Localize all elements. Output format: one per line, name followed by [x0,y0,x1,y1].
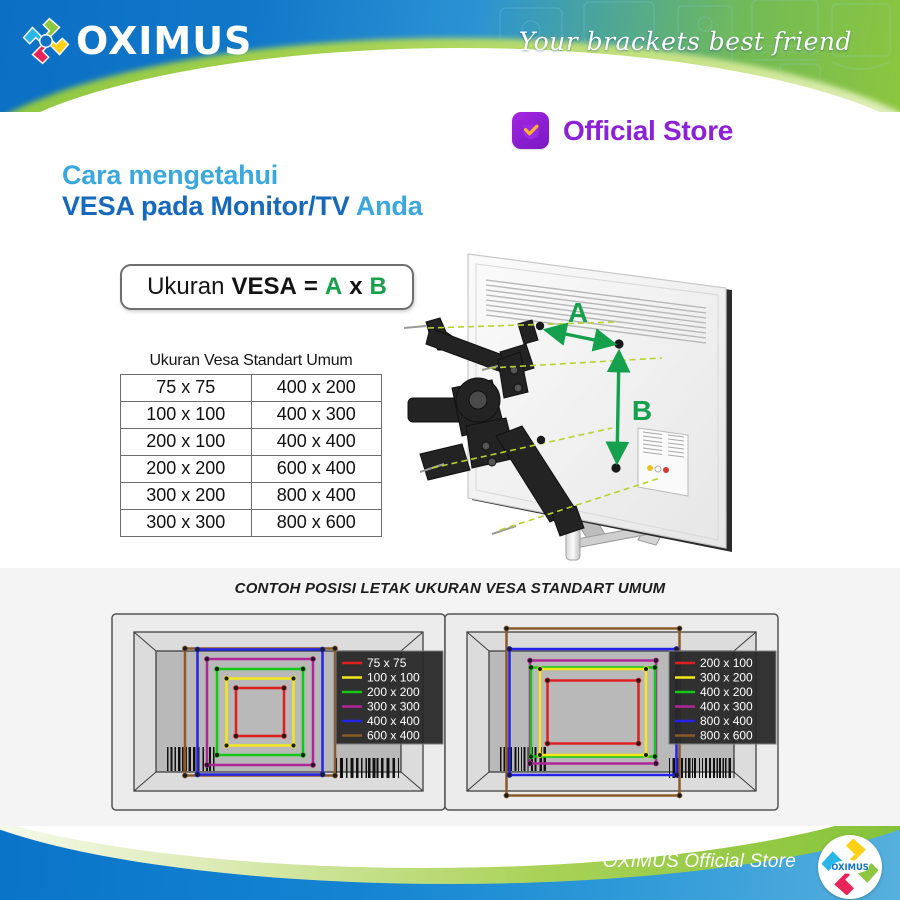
legend-label: 800 x 400 [700,714,753,728]
infographic-page: OXIMUS Your brackets best friend Officia… [0,0,900,900]
footer-store-name: OXIMUS Official Store [603,851,796,873]
legend: 75 x 75100 x 100200 x 200300 x 300400 x … [336,651,443,744]
legend-label: 600 x 400 [367,729,420,743]
vesa-size-table: 75 x 75400 x 200100 x 100400 x 300200 x … [120,374,382,537]
heading-line-2-main: VESA pada Monitor/TV [62,191,350,221]
table-cell: 400 x 200 [251,375,382,402]
formula-vesa: VESA [231,273,296,301]
page-title: Cara mengetahui VESA pada Monitor/TV And… [62,160,423,222]
table-cell: 800 x 600 [251,510,382,537]
legend-label: 100 x 100 [367,671,420,685]
vesa-example-panel-square: 75 x 75100 x 100200 x 200300 x 300400 x … [110,612,447,812]
legend-label: 300 x 200 [700,671,753,685]
official-store-badge: Official Store [512,112,733,149]
tv-connector-plate [638,428,688,496]
table-title: Ukuran Vesa Standart Umum [120,352,382,370]
heading-line-1: Cara mengetahui [62,160,423,191]
legend-label: 75 x 75 [367,656,407,670]
table-cell: 800 x 400 [251,483,382,510]
legend-label: 200 x 200 [367,685,420,699]
table-row: 300 x 200800 x 400 [121,483,382,510]
table-cell: 600 x 400 [251,456,382,483]
table-cell: 100 x 100 [121,402,252,429]
page-header: OXIMUS Your brackets best friend [0,0,900,112]
table-row: 100 x 100400 x 300 [121,402,382,429]
legend-label: 800 x 600 [700,729,753,743]
examples-section-title: CONTOH POSISI LETAK UKURAN VESA STANDART… [0,580,900,597]
label-b: B [632,395,652,426]
tv-back-illustration: A B [400,240,800,570]
formula-times: x [349,273,362,301]
formula-b: B [370,273,387,301]
heading-line-2-accent: Anda [350,191,423,221]
pinwheel-logo-icon [22,17,70,65]
table-cell: 75 x 75 [121,375,252,402]
table-row: 75 x 75400 x 200 [121,375,382,402]
tv-panel [468,254,732,552]
page-footer: OXIMUS Official Store OXIMUS [0,826,900,900]
footer-logo-badge: OXIMUS [818,835,882,899]
table-cell: 400 x 300 [251,402,382,429]
check-heart-icon [512,112,549,149]
vesa-size-table-wrap: Ukuran Vesa Standart Umum 75 x 75400 x 2… [120,352,382,537]
table-cell: 400 x 400 [251,429,382,456]
formula-a: A [325,273,342,301]
vesa-formula-box: Ukuran VESA = A x B [120,264,414,310]
table-row: 300 x 300800 x 600 [121,510,382,537]
table-cell: 300 x 200 [121,483,252,510]
legend-label: 300 x 300 [367,700,420,714]
table-cell: 300 x 300 [121,510,252,537]
official-store-label: Official Store [563,115,733,147]
header-tagline: Your brackets best friend [519,27,852,56]
logo-wordmark: OXIMUS [76,19,252,63]
legend-label: 200 x 100 [700,656,753,670]
table-cell: 200 x 200 [121,456,252,483]
legend-label: 400 x 400 [367,714,420,728]
heading-line-2: VESA pada Monitor/TV Anda [62,191,423,222]
vesa-example-panel-wide: 200 x 100300 x 200400 x 200400 x 300800 … [443,612,780,812]
legend-label: 400 x 300 [700,700,753,714]
formula-prefix: Ukuran [147,273,224,301]
brand-logo[interactable]: OXIMUS [22,17,252,65]
pinwheel-logo-icon: OXIMUS [822,839,878,895]
label-a: A [568,297,588,328]
formula-equals: = [304,273,318,301]
table-row: 200 x 200600 x 400 [121,456,382,483]
footer-badge-text: OXIMUS [831,862,869,872]
legend-label: 400 x 200 [700,685,753,699]
table-cell: 200 x 100 [121,429,252,456]
table-row: 200 x 100400 x 400 [121,429,382,456]
legend: 200 x 100300 x 200400 x 200400 x 300800 … [669,651,776,744]
